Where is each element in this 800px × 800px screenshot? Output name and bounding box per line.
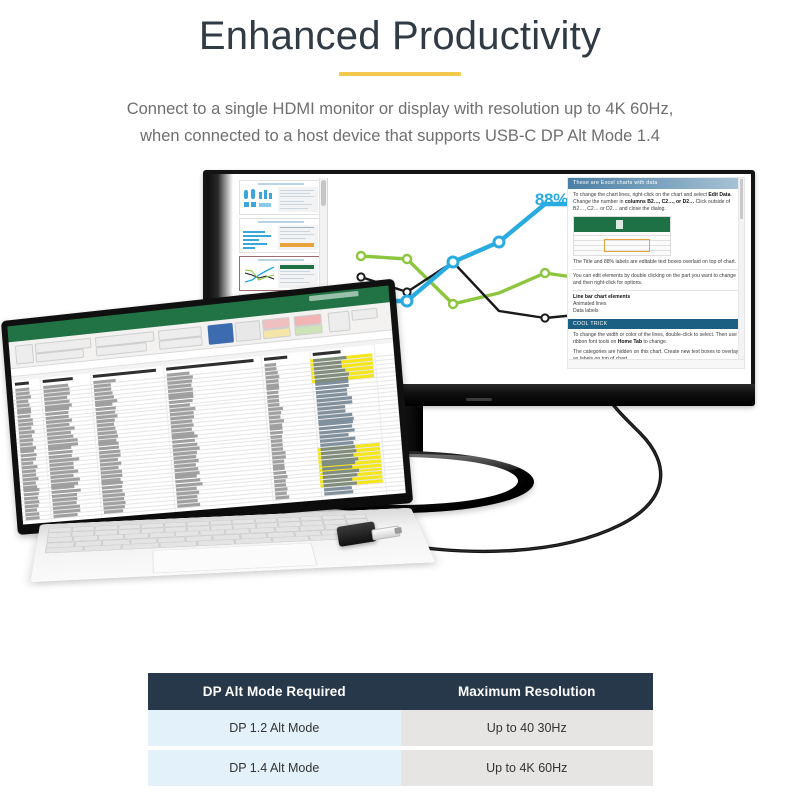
pane-paragraph-4: To change the width or color of the line… bbox=[573, 332, 739, 346]
laptop-trackpad[interactable] bbox=[152, 543, 317, 574]
laptop-lid bbox=[1, 279, 413, 535]
laptop bbox=[18, 320, 438, 610]
slide-thumbnail-2[interactable] bbox=[239, 218, 322, 253]
pane-paragraph-2: The Title and 88% labels are editable te… bbox=[573, 259, 739, 266]
pane-element-list: Line bar chart elements Animated lines D… bbox=[573, 294, 739, 316]
pane-scrollbar[interactable] bbox=[738, 178, 744, 368]
keyboard-key[interactable] bbox=[160, 541, 198, 548]
pane-heading: These are Excel charts with data bbox=[568, 178, 744, 189]
table-row: DP 1.2 Alt Mode Up to 40 30Hz bbox=[148, 710, 653, 746]
keyboard-key[interactable] bbox=[122, 543, 160, 550]
subtitle-line-1: Connect to a single HDMI monitor or disp… bbox=[0, 96, 800, 123]
pane-paragraph-1: To change the chart lines, right-click o… bbox=[573, 192, 739, 213]
excel-dialog-screenshot bbox=[573, 216, 671, 256]
spec-table: DP Alt Mode Required Maximum Resolution … bbox=[148, 673, 653, 786]
keyboard-key[interactable] bbox=[234, 537, 272, 544]
adapter-plug-tip bbox=[394, 527, 402, 534]
keyboard-key[interactable] bbox=[83, 545, 121, 552]
cell-dp-mode-2: DP 1.4 Alt Mode bbox=[148, 750, 401, 786]
chart-data-label-88: 88% bbox=[535, 190, 568, 210]
cell-dp-mode-1: DP 1.2 Alt Mode bbox=[148, 710, 401, 746]
title-underline-accent bbox=[339, 72, 461, 76]
cell-resolution-1: Up to 40 30Hz bbox=[401, 710, 654, 746]
column-header-max-resolution: Maximum Resolution bbox=[401, 673, 654, 710]
slide-thumbnail-3-selected[interactable] bbox=[239, 256, 322, 291]
laptop-screen bbox=[7, 286, 405, 525]
instruction-pane: These are Excel charts with data To chan… bbox=[567, 177, 745, 369]
page-subtitle: Connect to a single HDMI monitor or disp… bbox=[0, 96, 800, 150]
pane-list-title: Line bar chart elements bbox=[573, 294, 630, 300]
table-header-row: DP Alt Mode Required Maximum Resolution bbox=[148, 673, 653, 710]
keyboard-key[interactable] bbox=[197, 539, 235, 546]
cell-resolution-2: Up to 4K 60Hz bbox=[401, 750, 654, 786]
product-photo: 88% These are Excel charts with data To … bbox=[0, 165, 800, 640]
pane-footer bbox=[568, 359, 744, 368]
table-row: DP 1.4 Alt Mode Up to 4K 60Hz bbox=[148, 750, 653, 786]
pane-divider-1 bbox=[572, 269, 740, 270]
pane-divider-2 bbox=[572, 290, 740, 291]
slide-thumbnail-1[interactable] bbox=[239, 180, 322, 215]
pane-list-item-2: Data labels bbox=[573, 308, 598, 314]
keyboard-key[interactable] bbox=[272, 536, 310, 543]
marketing-image: Enhanced Productivity Connect to a singl… bbox=[0, 0, 800, 800]
pane-paragraph-3: You can edit elements by double clicking… bbox=[573, 273, 739, 287]
page-title: Enhanced Productivity bbox=[0, 14, 800, 59]
pane-list-item-1: Animated lines bbox=[573, 301, 606, 307]
pane-heading-cool-trick: COOL TRICK bbox=[568, 319, 744, 329]
keyboard-key[interactable] bbox=[45, 546, 84, 553]
column-header-dp-alt-mode: DP Alt Mode Required bbox=[148, 673, 401, 710]
subtitle-line-2: when connected to a host device that sup… bbox=[0, 123, 800, 150]
